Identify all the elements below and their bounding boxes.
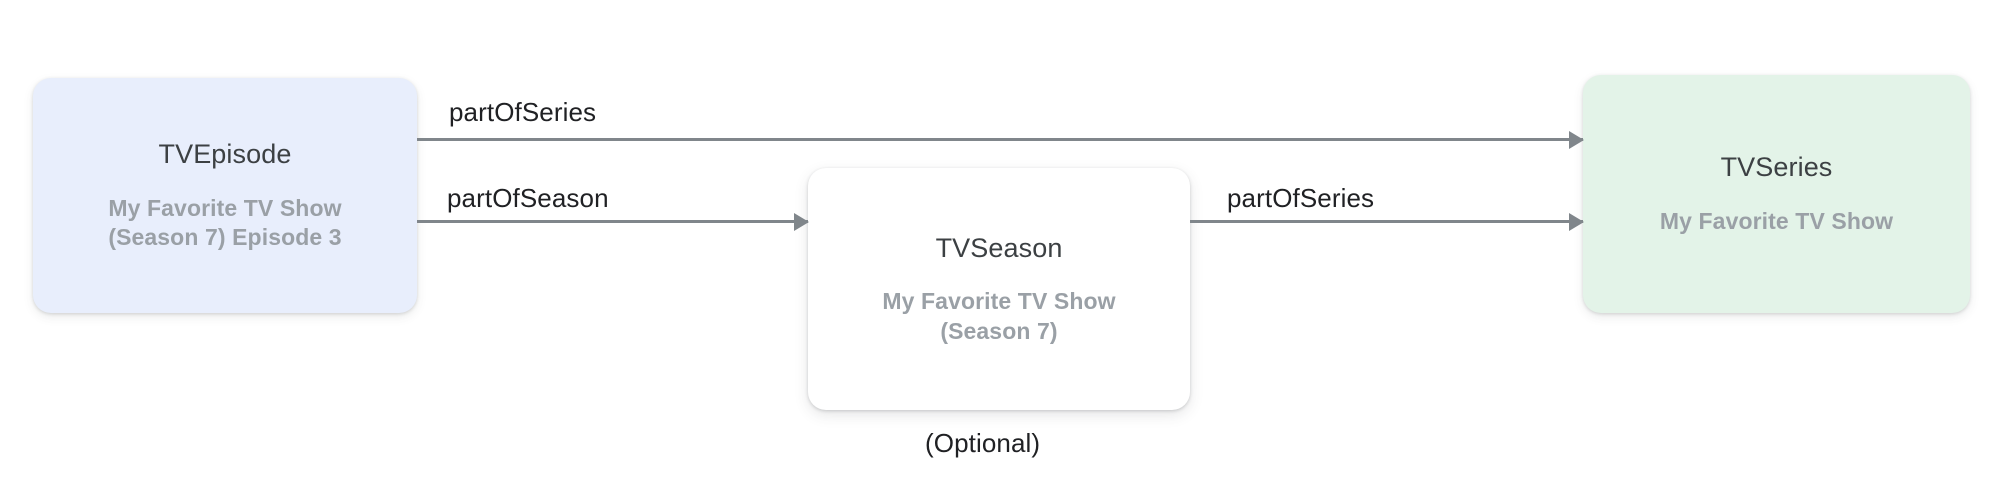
- node-tvseason[interactable]: TVSeason My Favorite TV Show (Season 7): [808, 168, 1190, 410]
- node-tvepisode-title: TVEpisode: [159, 138, 292, 172]
- node-tvseason-subtitle: My Favorite TV Show (Season 7): [882, 287, 1115, 346]
- edge-label-part-of-series-top: partOfSeries: [449, 99, 596, 125]
- diagram-canvas: TVEpisode My Favorite TV Show (Season 7)…: [0, 0, 2000, 495]
- annotation-optional: (Optional): [925, 430, 1040, 456]
- edge-arrow-episode-to-series: [417, 138, 1583, 141]
- node-tvseries-title: TVSeries: [1721, 151, 1833, 185]
- node-tvepisode[interactable]: TVEpisode My Favorite TV Show (Season 7)…: [33, 78, 417, 313]
- edge-label-part-of-series-middle: partOfSeries: [1227, 185, 1374, 211]
- node-tvseries[interactable]: TVSeries My Favorite TV Show: [1583, 75, 1970, 313]
- edge-arrow-season-to-series: [1190, 220, 1583, 223]
- node-tvseries-subtitle: My Favorite TV Show: [1660, 207, 1893, 236]
- node-tvseason-title: TVSeason: [936, 232, 1063, 266]
- edge-arrow-episode-to-season: [417, 220, 808, 223]
- edge-label-part-of-season: partOfSeason: [447, 185, 609, 211]
- node-tvepisode-subtitle: My Favorite TV Show (Season 7) Episode 3: [108, 194, 341, 253]
